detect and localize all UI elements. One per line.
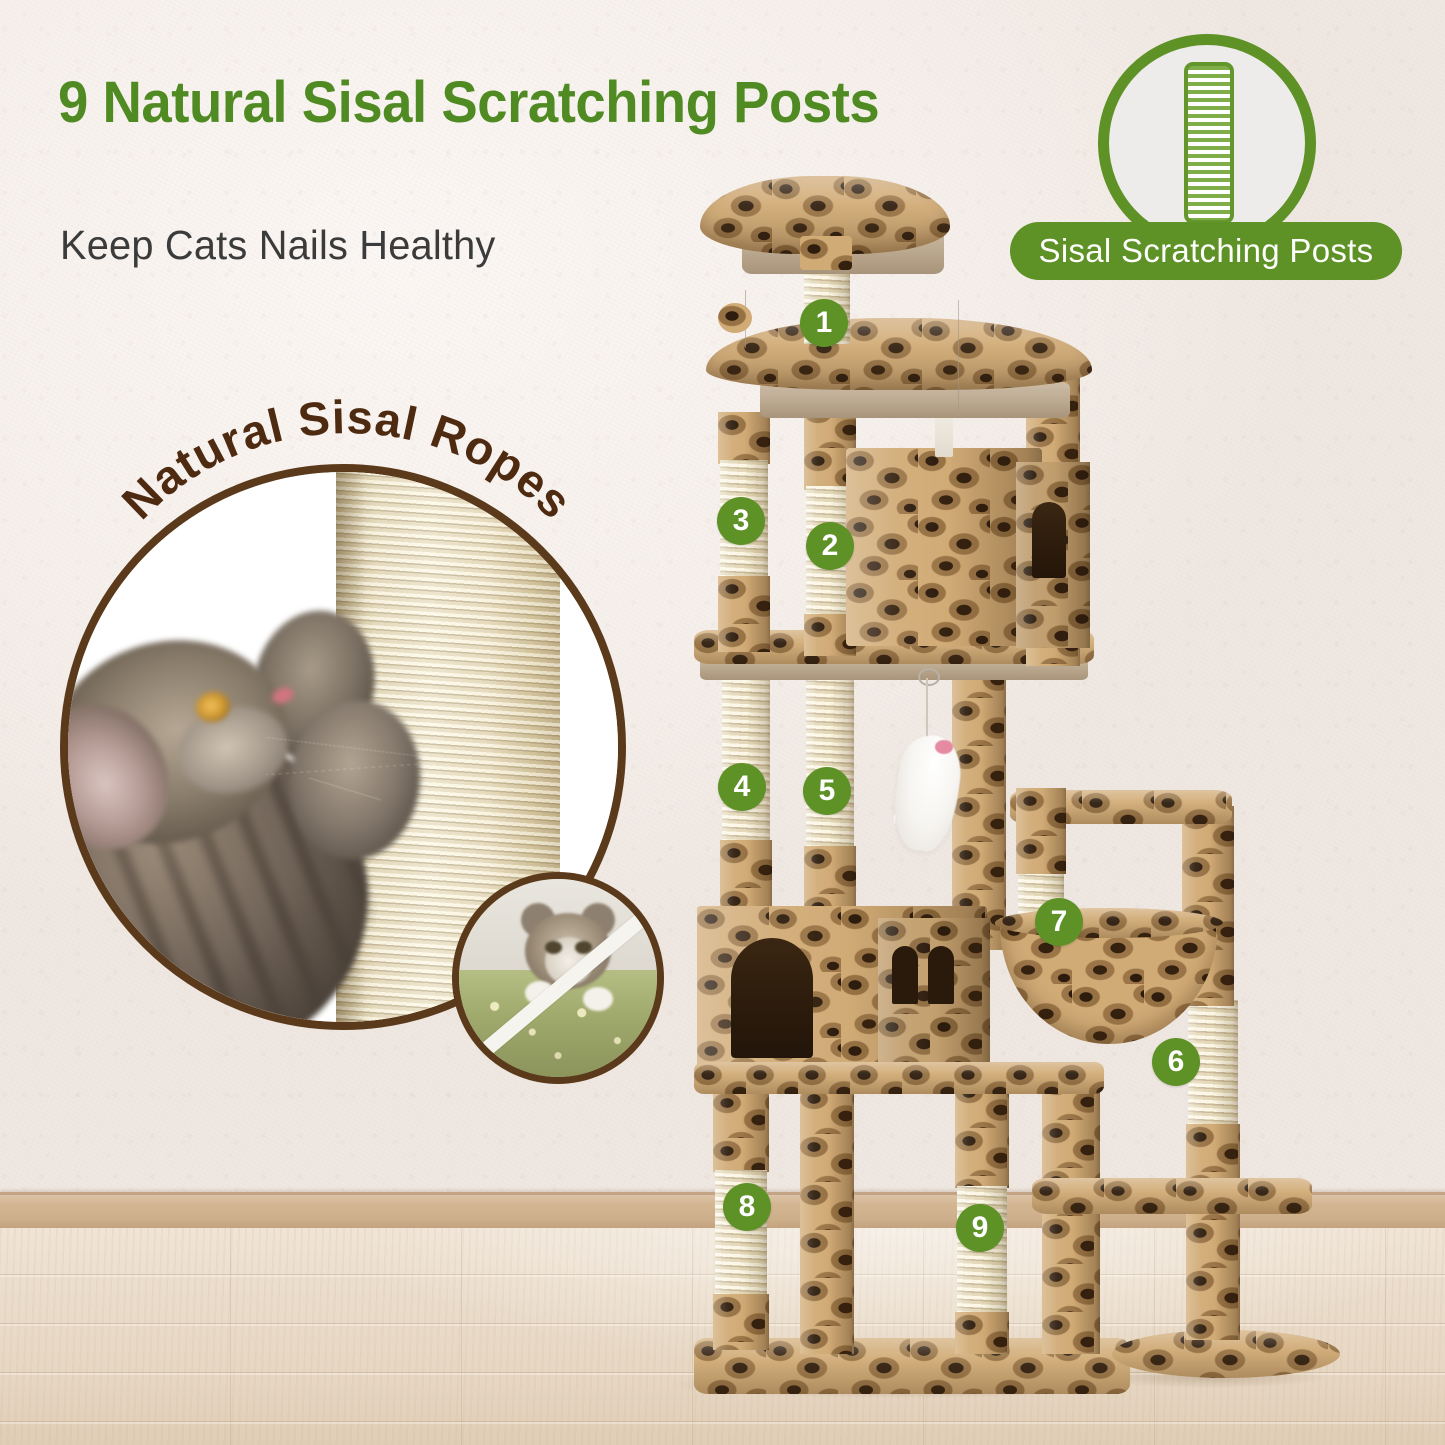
center-mid-post-sisal <box>806 666 854 850</box>
callout-badge-2: 2 <box>806 522 854 570</box>
callout-number: 6 <box>1168 1045 1185 1079</box>
callout-badge-7: 7 <box>1035 898 1083 946</box>
callout-badge-9: 9 <box>956 1204 1004 1252</box>
mouse-toy-hook <box>918 668 940 686</box>
callout-number: 5 <box>819 774 836 808</box>
sisal-post-icon <box>1184 62 1234 224</box>
page-subtitle: Keep Cats Nails Healthy <box>60 222 758 269</box>
pompom-ball <box>718 303 752 333</box>
right-mid-shelf <box>1032 1178 1312 1214</box>
no-sofa-scratching-inset <box>452 872 664 1084</box>
left-mid-post-sisal <box>722 666 770 844</box>
cat-photo-subject <box>60 582 458 1030</box>
callout-badge-6: 6 <box>1152 1038 1200 1086</box>
callout-badge-1: 1 <box>800 299 848 347</box>
callout-badge-3: 3 <box>717 497 765 545</box>
upper-condo <box>846 448 1042 646</box>
lower-condo-window-right <box>928 946 954 1004</box>
hammock-support-post-wrap <box>1016 788 1066 874</box>
right-lower-post-wrap <box>1186 1124 1240 1340</box>
toy-rope-right <box>958 300 959 410</box>
hammock-rim <box>995 908 1223 938</box>
lower-condo-window-left <box>892 946 918 1004</box>
callout-number: 7 <box>1051 905 1068 939</box>
badge-label: Sisal Scratching Posts <box>1039 232 1374 270</box>
badge-pill: Sisal Scratching Posts <box>1010 222 1402 280</box>
page-title: 9 Natural Sisal Scratching Posts <box>58 72 904 133</box>
right-tall-rear-post <box>952 650 1006 950</box>
callout-number: 4 <box>734 770 751 804</box>
product-feature-image: 9 Natural Sisal Scratching Posts Keep Ca… <box>0 0 1445 1445</box>
callout-number: 2 <box>822 529 839 563</box>
cat-whiskers <box>266 732 426 802</box>
inset-cat-paw-right <box>583 987 613 1011</box>
upper-condo-door <box>1032 502 1066 578</box>
mouse-toy-string <box>926 678 928 740</box>
left-base-post-top-wrap <box>713 1090 769 1172</box>
mouse-toy-ear <box>935 740 953 754</box>
left-base-post-bottom-wrap <box>713 1294 769 1350</box>
callout-badge-4: 4 <box>718 763 766 811</box>
top-perch-post-collar <box>800 236 852 270</box>
callout-badge-8: 8 <box>723 1183 771 1231</box>
left-upper-post-top-wrap <box>718 412 770 464</box>
callout-number: 3 <box>733 504 750 538</box>
lower-condo-door <box>731 938 813 1058</box>
left-upper-post-bottom-wrap <box>718 576 770 652</box>
left-rear-base-post <box>800 1086 854 1354</box>
callout-badge-5: 5 <box>803 767 851 815</box>
callout-number: 9 <box>972 1211 989 1245</box>
inset-cat <box>511 903 627 1015</box>
center-base-post-top-wrap <box>955 1080 1009 1188</box>
inset-cat-eye-left <box>545 941 562 954</box>
sisal-scratching-posts-badge: Sisal Scratching Posts <box>1008 34 1404 284</box>
callout-number: 8 <box>739 1190 756 1224</box>
lower-condo-rim <box>694 1062 1104 1094</box>
callout-number: 1 <box>816 306 833 340</box>
center-base-post-bottom-wrap <box>955 1312 1009 1354</box>
